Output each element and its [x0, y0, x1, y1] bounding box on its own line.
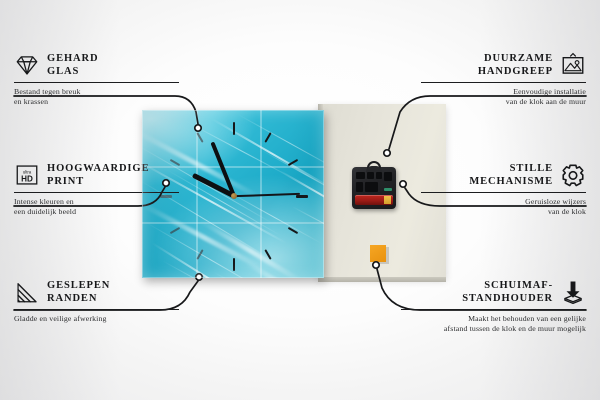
gear-icon — [560, 162, 586, 188]
feature-duurzame-handgreep[interactable]: DUURZAMEHANDGREEP Eenvoudige installatie… — [421, 52, 586, 107]
ultra-hd-icon: ultra HD — [14, 162, 40, 188]
mechanism-slot — [384, 172, 392, 181]
clock-tick — [296, 195, 308, 198]
svg-text:HD: HD — [21, 175, 33, 184]
clock-tick — [233, 258, 235, 271]
feature-divider — [401, 309, 586, 310]
feature-divider — [14, 82, 179, 83]
feature-description: Gladde en veilige afwerking — [14, 314, 179, 324]
feature-description: Geruisloze wijzersvan de klok — [421, 197, 586, 217]
mechanism-slot — [376, 172, 382, 179]
feature-header: GEHARDGLAS — [14, 52, 179, 78]
svg-text:ultra: ultra — [23, 169, 32, 174]
feature-title: SCHUIMAF-STANDHOUDER — [401, 279, 553, 305]
clock-mechanism — [352, 167, 396, 209]
mechanism-slot — [365, 182, 378, 192]
feature-header: GESLEPENRANDEN — [14, 279, 179, 305]
picture-frame-icon — [560, 52, 586, 78]
diamond-icon — [14, 52, 40, 78]
mechanism-indicator — [384, 188, 392, 191]
feature-divider — [421, 192, 586, 193]
feature-gehard-glas[interactable]: GEHARDGLAS Bestand tegen breuken krassen — [14, 52, 179, 107]
feature-header: STILLEMECHANISME — [421, 162, 586, 188]
poster-canvas: GEHARDGLAS Bestand tegen breuken krassen… — [0, 0, 600, 400]
clock-tick — [233, 122, 235, 135]
feature-description: Eenvoudige installatievan de klok aan de… — [421, 87, 586, 107]
feature-stille-mechanisme[interactable]: STILLEMECHANISME Geruisloze wijzersvan d… — [421, 162, 586, 217]
feature-header: DUURZAMEHANDGREEP — [421, 52, 586, 78]
feature-divider — [421, 82, 586, 83]
feature-title: STILLEMECHANISME — [421, 162, 553, 188]
mechanism-slot — [367, 172, 374, 179]
feature-title: DUURZAMEHANDGREEP — [421, 52, 553, 78]
feature-description: Bestand tegen breuken krassen — [14, 87, 179, 107]
feature-header: SCHUIMAF-STANDHOUDER — [401, 279, 586, 305]
feature-header: ultra HD HOOGWAARDIGEPRINT — [14, 162, 179, 188]
feature-hoogwaardige-print[interactable]: ultra HD HOOGWAARDIGEPRINT Intense kleur… — [14, 162, 179, 217]
feature-schuimafstandhouder[interactable]: SCHUIMAF-STANDHOUDER Maakt het behouden … — [401, 279, 586, 334]
feature-title: HOOGWAARDIGEPRINT — [47, 162, 179, 188]
battery-positive-terminal — [384, 196, 391, 204]
feature-title: GEHARDGLAS — [47, 52, 179, 78]
mechanism-slot — [356, 172, 365, 179]
feature-description: Intense kleuren eneen duidelijk beeld — [14, 197, 179, 217]
down-arrow-pad-icon — [560, 279, 586, 305]
clock-center-cap — [231, 193, 237, 199]
foam-spacer-pad — [370, 245, 386, 262]
feature-geslepen-randen[interactable]: GESLEPENRANDEN Gladde en veilige afwerki… — [14, 279, 179, 324]
feature-description: Maakt het behouden van een gelijkeafstan… — [401, 314, 586, 334]
feature-title: GESLEPENRANDEN — [47, 279, 179, 305]
feature-divider — [14, 309, 179, 310]
mechanism-slot — [356, 182, 363, 192]
feature-divider — [14, 192, 179, 193]
battery — [355, 195, 393, 205]
diagonal-lines-icon — [14, 279, 40, 305]
